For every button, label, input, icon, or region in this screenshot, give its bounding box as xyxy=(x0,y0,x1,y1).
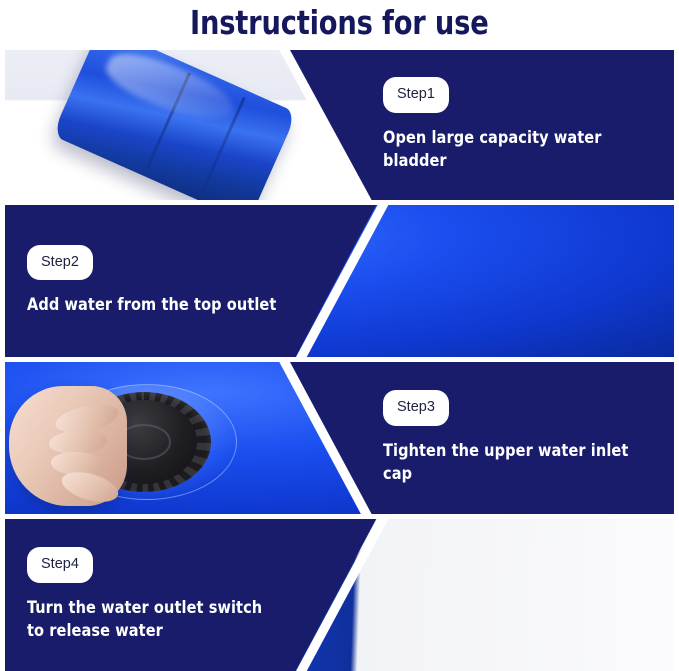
page-title: Instructions for use xyxy=(190,3,489,42)
instructions-infographic: Instructions for use Step1 Open large ca… xyxy=(0,0,679,671)
step-row-3: Step3 Tighten the upper water inlet cap xyxy=(5,362,674,514)
step-2-content: Step2 Add water from the top outlet xyxy=(27,205,327,357)
step-row-2: Step2 Add water from the top outlet xyxy=(5,205,674,357)
step-1-caption: Open large capacity water bladder xyxy=(383,127,648,173)
step-3-caption: Tighten the upper water inlet cap xyxy=(383,440,648,486)
hand-icon xyxy=(9,386,127,506)
fold-crease-icon xyxy=(200,97,246,195)
step-3-content: Step3 Tighten the upper water inlet cap xyxy=(383,362,662,514)
step-1-content: Step1 Open large capacity water bladder xyxy=(383,50,662,200)
step-4-caption: Turn the water outlet switch to release … xyxy=(27,597,312,643)
step-2-badge: Step2 xyxy=(27,245,93,281)
step-4-caption-line-2: to release water xyxy=(27,620,312,643)
step-2-caption: Add water from the top outlet xyxy=(27,294,312,317)
step-3-badge: Step3 xyxy=(383,390,449,426)
fold-crease-icon xyxy=(145,72,191,170)
step-4-content: Step4 Turn the water outlet switch to re… xyxy=(27,519,327,671)
page-title-bar: Instructions for use xyxy=(0,0,679,45)
step-row-4: Step4 Turn the water outlet switch to re… xyxy=(5,519,674,671)
step-4-badge: Step4 xyxy=(27,547,93,583)
step-row-1: Step1 Open large capacity water bladder xyxy=(5,50,674,200)
step-1-badge: Step1 xyxy=(383,77,449,113)
step-4-caption-line-1: Turn the water outlet switch xyxy=(27,597,312,620)
finger-icon xyxy=(59,467,122,508)
